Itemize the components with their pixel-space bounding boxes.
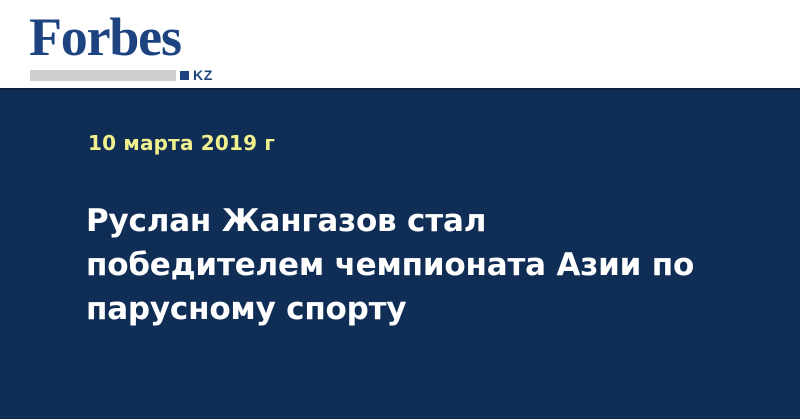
hero-banner: 10 марта 2019 г Руслан Жангазов стал поб… [0,88,800,419]
logo-underline-bar [30,70,176,81]
forbes-kz-logo[interactable]: Forbes KZ [29,10,224,80]
article-hero-page: Forbes KZ 10 марта 2019 г Руслан Жангазо… [0,0,800,419]
logo-square-icon [180,71,189,80]
logo-wordmark: Forbes [29,10,181,64]
article-date: 10 марта 2019 г [88,131,275,155]
site-header: Forbes KZ [0,0,800,88]
article-headline: Руслан Жангазов стал победителем чемпион… [86,199,726,331]
logo-country-suffix: KZ [193,68,213,82]
